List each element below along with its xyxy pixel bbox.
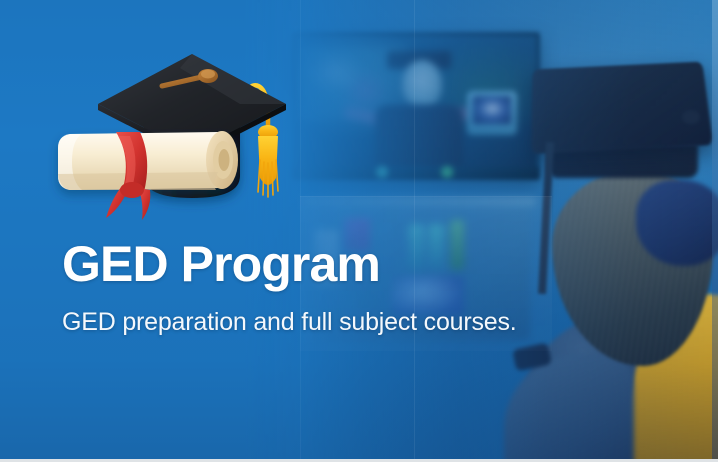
ged-program-hero-banner: GED Program GED preparation and full sub… (0, 0, 718, 462)
page-title: GED Program (62, 238, 622, 291)
composite-seam-right (414, 0, 415, 462)
right-edge-strip (712, 0, 718, 462)
hero-copy: GED Program GED preparation and full sub… (62, 238, 622, 337)
graduation-cap-and-diploma (40, 40, 302, 226)
diploma-scroll-icon (58, 131, 238, 190)
page-subtitle: GED preparation and full subject courses… (62, 307, 622, 337)
